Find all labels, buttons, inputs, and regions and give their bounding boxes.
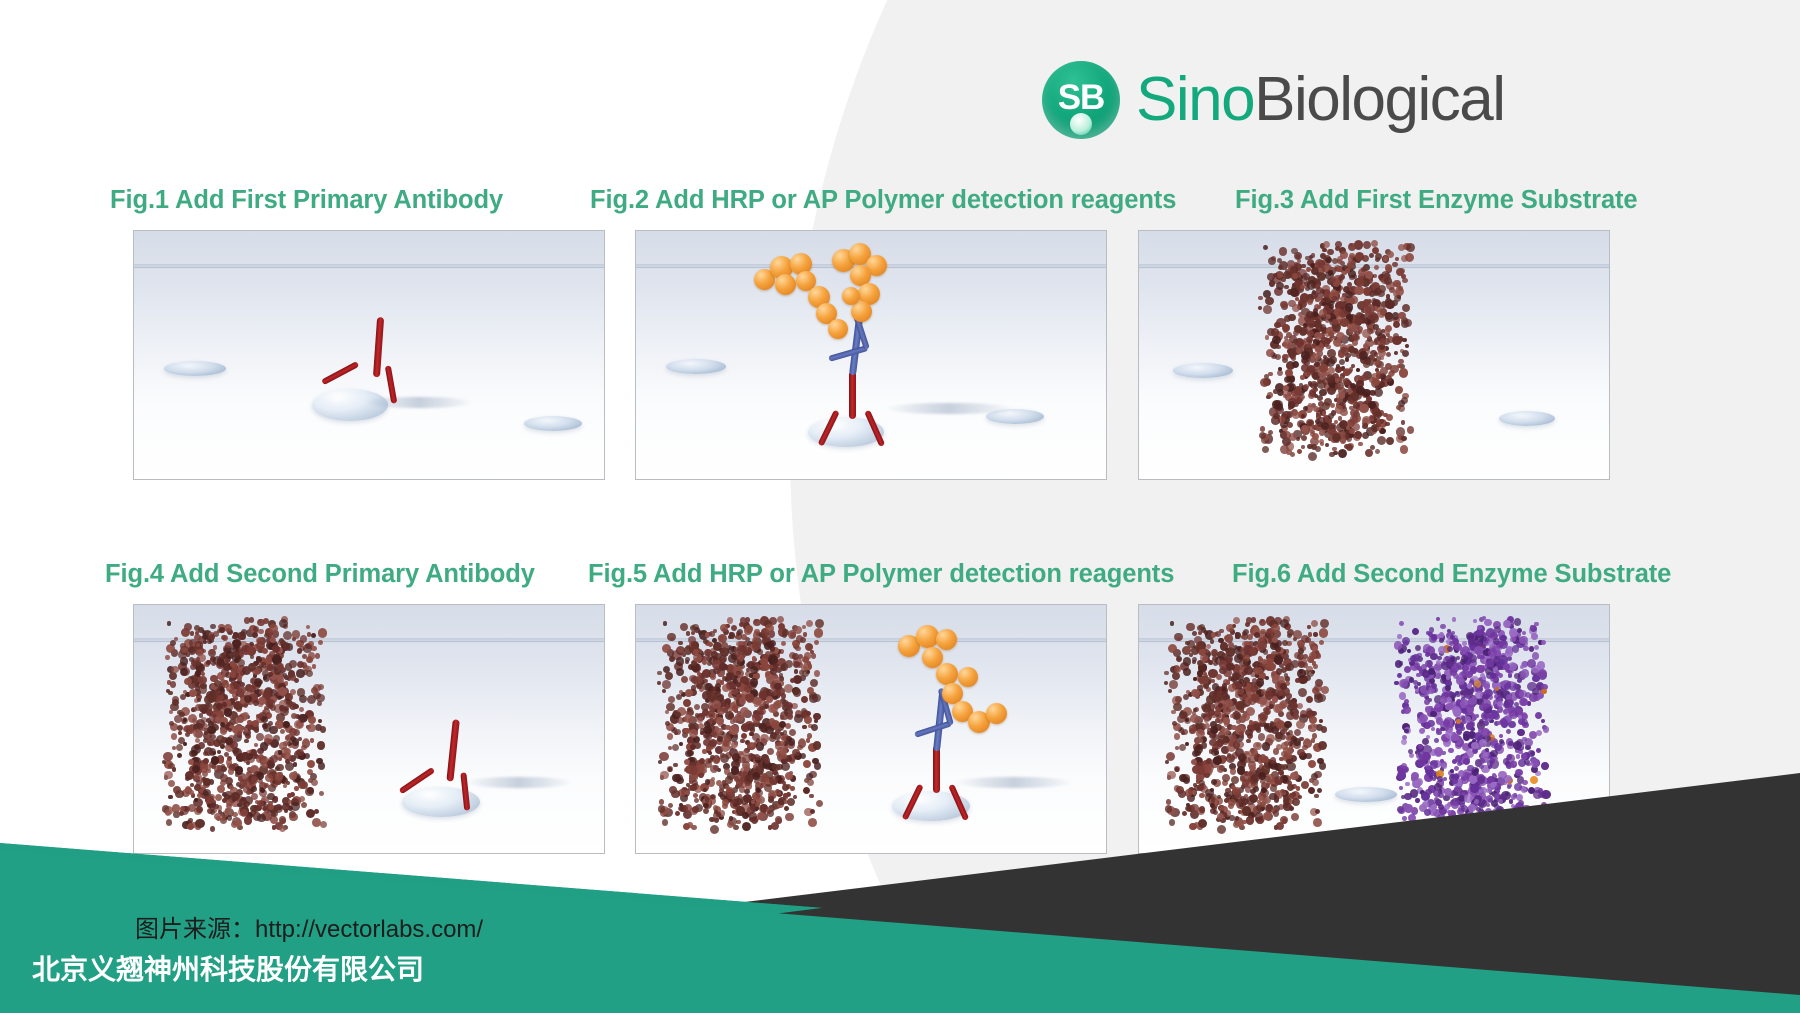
deposit-particle: [1361, 374, 1368, 381]
deposit-particle: [1175, 696, 1182, 703]
deposit-particle: [1381, 329, 1385, 333]
deposit-particle: [720, 624, 728, 632]
deposit-particle: [221, 635, 226, 640]
company-name-label: 北京义翘神州科技股份有限公司: [32, 948, 424, 988]
deposit-particle: [250, 655, 255, 660]
deposit-particle: [1319, 628, 1329, 638]
deposit-particle: [1307, 625, 1311, 629]
deposit-particle: [1354, 286, 1363, 295]
deposit-particle: [1363, 361, 1370, 368]
deposit-particle: [1494, 626, 1501, 633]
deposit-particle: [1288, 314, 1296, 322]
deposit-particle: [773, 663, 778, 668]
deposit-particle: [1278, 265, 1283, 270]
deposit-particle: [1394, 295, 1401, 302]
deposit-particle: [777, 616, 784, 623]
deposit-particle: [1493, 656, 1500, 663]
deposit-particle: [194, 625, 200, 631]
deposit-particle: [299, 695, 307, 703]
deposit-particle: [1519, 636, 1528, 645]
deposit-particle: [1270, 642, 1278, 650]
deposit-particle: [1514, 618, 1522, 626]
deposit-particle: [1277, 370, 1283, 376]
figure-row-1: Fig.1 Add First Primary Antibody Fig.2 A…: [0, 186, 1800, 490]
deposit-particle: [675, 712, 680, 717]
deposit-particle: [1324, 338, 1331, 345]
antibody-arm-left: [321, 361, 359, 385]
deposit-particle: [263, 674, 270, 681]
logo-word-biological: Biological: [1254, 65, 1504, 134]
deposit-particle: [1372, 378, 1380, 386]
deposit-particle: [1331, 289, 1337, 295]
deposit-particle: [1308, 421, 1313, 426]
deposit-particle: [1254, 667, 1263, 676]
deposit-particle: [1363, 423, 1368, 428]
deposit-particle: [1265, 335, 1270, 340]
deposit-particle: [1452, 617, 1456, 621]
deposit-particle: [1395, 660, 1403, 668]
deposit-particle: [814, 628, 824, 638]
deposit-particle: [1271, 671, 1276, 676]
deposit-particle: [1493, 713, 1500, 720]
deposit-particle: [662, 644, 671, 653]
deposit-particle: [1342, 293, 1346, 297]
deposit-particle: [708, 642, 713, 647]
figure-row-1-captions: Fig.1 Add First Primary Antibody Fig.2 A…: [0, 186, 1800, 230]
deposit-particle: [1468, 638, 1476, 646]
deposit-particle: [1377, 420, 1381, 424]
deposit-particle: [812, 694, 820, 702]
deposit-particle: [1307, 330, 1314, 337]
deposit-particle: [1362, 432, 1369, 439]
deposit-particle: [224, 708, 233, 717]
deposit-particle: [1356, 368, 1360, 372]
deposit-particle: [1513, 684, 1518, 689]
deposit-particle: [760, 658, 768, 666]
deposit-particle: [694, 704, 700, 710]
deposit-particle: [1337, 267, 1342, 272]
deposit-particle: [1451, 657, 1455, 661]
deposit-particle: [1401, 420, 1406, 425]
deposit-particle: [1329, 304, 1334, 309]
deposit-particle: [1318, 266, 1324, 272]
deposit-particle: [1400, 445, 1409, 454]
deposit-particle: [1375, 449, 1380, 454]
deposit-particle: [1325, 443, 1329, 447]
deposit-particle: [1406, 243, 1415, 252]
deposit-particle: [814, 670, 821, 677]
deposit-particle: [1301, 635, 1308, 642]
deposit-particle: [316, 694, 324, 702]
deposit-particle: [1295, 678, 1300, 683]
deposit-particle: [1301, 435, 1307, 441]
deposit-particle: [1317, 379, 1322, 384]
deposit-particle: [169, 672, 178, 681]
deposit-particle: [1306, 696, 1313, 703]
deposit-particle: [749, 673, 754, 678]
deposit-particle: [1349, 253, 1355, 259]
deposit-particle: [1183, 668, 1191, 676]
deposit-particle: [1235, 635, 1239, 639]
enzyme-bead: [958, 667, 978, 687]
deposit-particle: [811, 653, 817, 659]
deposit-particle: [1426, 682, 1430, 686]
deposit-particle: [1541, 689, 1546, 694]
deposit-particle: [1164, 671, 1169, 676]
deposit-particle: [311, 633, 316, 638]
deposit-particle: [167, 621, 172, 626]
deposit-particle: [290, 674, 296, 680]
deposit-particle: [300, 635, 307, 642]
deposit-particle: [713, 713, 719, 719]
deposit-particle: [1393, 321, 1400, 328]
deposit-particle: [1436, 617, 1440, 621]
deposit-particle: [1272, 336, 1281, 345]
chromogen-deposit-brown: [1257, 239, 1407, 454]
deposit-particle: [1290, 288, 1299, 297]
deposit-particle: [253, 700, 259, 706]
deposit-particle: [1463, 689, 1473, 699]
deposit-particle: [1404, 666, 1411, 673]
deposit-particle: [736, 631, 741, 636]
deposit-particle: [1319, 429, 1326, 436]
deposit-particle: [796, 635, 803, 642]
deposit-particle: [804, 652, 811, 659]
slide-canvas: SB SinoBiological Fig.1 Add First Primar…: [0, 0, 1800, 1013]
deposit-particle: [676, 657, 684, 665]
deposit-particle: [766, 696, 773, 703]
deposit-particle: [1399, 368, 1408, 377]
deposit-particle: [1276, 668, 1283, 675]
deposit-particle: [1313, 632, 1318, 637]
deposit-particle: [308, 652, 315, 659]
deposit-particle: [739, 697, 747, 705]
deposit-particle: [1431, 683, 1437, 689]
deposit-particle: [815, 619, 824, 628]
deposit-particle: [1315, 298, 1319, 302]
deposit-particle: [1362, 329, 1371, 338]
deposit-particle: [785, 702, 793, 710]
deposit-particle: [1310, 381, 1318, 389]
deposit-particle: [1216, 674, 1222, 680]
deposit-particle: [165, 655, 170, 660]
deposit-particle: [1278, 691, 1283, 696]
deposit-particle: [1345, 353, 1350, 358]
deposit-particle: [1197, 625, 1203, 631]
deposit-particle: [184, 678, 191, 685]
deposit-particle: [1286, 693, 1292, 699]
deposit-particle: [1392, 336, 1401, 345]
deposit-particle: [1512, 645, 1520, 653]
deposit-particle: [1254, 632, 1260, 638]
antigen-blob: [666, 359, 726, 374]
deposit-particle: [1520, 698, 1528, 706]
deposit-particle: [1215, 631, 1221, 637]
deposit-particle: [244, 695, 252, 703]
deposit-particle: [764, 704, 769, 709]
deposit-particle: [1412, 628, 1419, 635]
deposit-particle: [1401, 436, 1406, 441]
deposit-particle: [1347, 261, 1354, 268]
deposit-particle: [1402, 278, 1408, 284]
deposit-particle: [1186, 623, 1194, 631]
deposit-particle: [1354, 240, 1363, 249]
deposit-particle: [685, 657, 690, 662]
deposit-particle: [1297, 449, 1302, 454]
deposit-particle: [1300, 375, 1305, 380]
deposit-particle: [1286, 449, 1291, 454]
deposit-particle: [805, 643, 813, 651]
deposit-particle: [1265, 676, 1269, 680]
deposit-particle: [1287, 422, 1293, 428]
deposit-particle: [1507, 681, 1512, 686]
deposit-particle: [1308, 392, 1316, 400]
deposit-particle: [1292, 304, 1300, 312]
deposit-particle: [206, 718, 211, 723]
deposit-particle: [1340, 251, 1348, 259]
deposit-particle: [1477, 655, 1482, 660]
deposit-particle: [1293, 330, 1299, 336]
deposit-particle: [261, 662, 267, 668]
deposit-particle: [1258, 296, 1263, 301]
deposit-particle: [1319, 640, 1324, 645]
deposit-particle: [1328, 331, 1334, 337]
deposit-particle: [1399, 679, 1408, 688]
deposit-particle: [773, 691, 778, 696]
deposit-particle: [803, 632, 807, 636]
deposit-particle: [1251, 617, 1257, 623]
deposit-particle: [1397, 673, 1402, 678]
deposit-particle: [1230, 714, 1234, 718]
deposit-particle: [1398, 312, 1405, 319]
deposit-particle: [1174, 666, 1181, 673]
deposit-particle: [318, 684, 325, 691]
deposit-particle: [180, 657, 188, 665]
antigen-blob: [1173, 363, 1233, 378]
deposit-particle: [1345, 303, 1353, 311]
deposit-particle: [1476, 630, 1483, 637]
deposit-particle: [1398, 244, 1405, 251]
deposit-particle: [1407, 649, 1411, 653]
deposit-particle: [1403, 706, 1411, 714]
logo-word-sino: Sino: [1136, 65, 1254, 134]
deposit-particle: [1396, 405, 1401, 410]
deposit-particle: [1327, 249, 1333, 255]
deposit-particle: [267, 664, 274, 671]
deposit-particle: [1370, 355, 1375, 360]
deposit-particle: [1329, 452, 1335, 458]
deposit-particle: [752, 641, 761, 650]
deposit-particle: [1225, 699, 1233, 707]
deposit-particle: [1405, 344, 1409, 348]
deposit-particle: [1268, 257, 1276, 265]
deposit-particle: [279, 619, 288, 628]
deposit-particle: [1177, 637, 1181, 641]
deposit-particle: [807, 687, 814, 694]
deposit-particle: [703, 639, 708, 644]
deposit-particle: [1316, 653, 1322, 659]
deposit-particle: [181, 628, 190, 637]
deposit-particle: [732, 689, 738, 695]
deposit-particle: [237, 676, 242, 681]
deposit-particle: [1258, 714, 1262, 718]
deposit-particle: [1177, 715, 1185, 723]
deposit-particle: [1307, 280, 1316, 289]
deposit-particle: [1297, 669, 1306, 678]
deposit-particle: [1314, 353, 1321, 360]
deposit-particle: [1338, 449, 1347, 458]
deposit-particle: [1313, 312, 1318, 317]
deposit-particle: [668, 696, 675, 703]
logo-highlight-dot: [1070, 113, 1092, 135]
deposit-particle: [695, 676, 703, 684]
deposit-particle: [705, 649, 710, 654]
deposit-particle: [1514, 673, 1520, 679]
deposit-particle: [1336, 423, 1345, 432]
figure-row-1-panels: [0, 230, 1800, 490]
deposit-particle: [1301, 445, 1305, 449]
deposit-particle: [1284, 285, 1288, 289]
deposit-particle: [1345, 291, 1353, 299]
deposit-particle: [1380, 367, 1388, 375]
deposit-particle: [1317, 694, 1325, 702]
deposit-particle: [1344, 444, 1349, 449]
deposit-particle: [1176, 656, 1182, 662]
figure-caption-5: Fig.5 Add HRP or AP Polymer detection re…: [588, 560, 1174, 589]
deposit-particle: [195, 682, 199, 686]
deposit-particle: [237, 686, 246, 695]
deposit-particle: [1283, 431, 1291, 439]
deposit-particle: [1438, 646, 1446, 654]
deposit-particle: [277, 663, 284, 670]
deposit-particle: [1355, 331, 1360, 336]
deposit-particle: [1259, 619, 1267, 627]
deposit-particle: [318, 628, 328, 638]
deposit-particle: [680, 623, 688, 631]
antibody-stem: [373, 317, 384, 377]
deposit-particle: [1291, 248, 1298, 255]
deposit-particle: [1276, 282, 1284, 290]
panel-horizon-line: [134, 267, 604, 268]
deposit-particle: [197, 698, 201, 702]
deposit-particle: [1377, 436, 1386, 445]
deposit-particle: [665, 672, 674, 681]
deposit-particle: [1265, 297, 1274, 306]
deposit-particle: [267, 699, 275, 707]
deposit-particle: [1202, 704, 1211, 713]
image-source-label: 图片来源：http://vectorlabs.com/: [135, 909, 483, 944]
deposit-particle: [1273, 389, 1278, 394]
deposit-particle: [657, 681, 662, 686]
deposit-particle: [1374, 265, 1379, 270]
deposit-particle: [684, 714, 693, 723]
deposit-particle: [219, 627, 225, 633]
deposit-particle: [1275, 704, 1283, 712]
deposit-particle: [284, 706, 289, 711]
deposit-particle: [709, 631, 715, 637]
figure-caption-2: Fig.2 Add HRP or AP Polymer detection re…: [590, 186, 1176, 215]
deposit-particle: [1332, 319, 1338, 325]
deposit-particle: [222, 680, 230, 688]
deposit-particle: [1521, 669, 1530, 678]
deposit-particle: [1204, 717, 1210, 723]
deposit-particle: [243, 703, 248, 708]
deposit-particle: [1522, 631, 1526, 635]
deposit-particle: [1439, 638, 1444, 643]
deposit-particle: [1313, 664, 1318, 669]
deposit-particle: [1263, 245, 1268, 250]
deposit-particle: [1172, 672, 1181, 681]
deposit-particle: [307, 695, 316, 704]
deposit-particle: [1332, 447, 1336, 451]
deposit-particle: [262, 648, 268, 654]
deposit-particle: [1280, 683, 1287, 690]
deposit-particle: [1271, 416, 1279, 424]
deposit-particle: [1249, 648, 1256, 655]
deposit-particle: [720, 680, 724, 684]
deposit-particle: [1405, 253, 1415, 263]
deposit-particle: [1371, 240, 1378, 247]
deposit-particle: [258, 697, 266, 705]
deposit-particle: [1395, 257, 1399, 261]
deposit-particle: [1316, 287, 1323, 294]
deposit-particle: [1503, 663, 1510, 670]
deposit-particle: [1462, 708, 1468, 714]
deposit-particle: [1416, 673, 1420, 677]
deposit-particle: [1535, 712, 1542, 719]
deposit-particle: [254, 678, 262, 686]
deposit-particle: [745, 617, 751, 623]
deposit-particle: [311, 646, 316, 651]
deposit-particle: [1340, 437, 1346, 443]
sb-monogram-icon: SB: [1042, 61, 1120, 139]
deposit-particle: [1313, 406, 1319, 412]
deposit-particle: [1541, 640, 1546, 645]
deposit-particle: [1374, 388, 1383, 397]
deposit-particle: [1453, 708, 1462, 717]
deposit-particle: [1298, 312, 1303, 317]
deposit-particle: [764, 642, 772, 650]
deposit-particle: [1365, 449, 1373, 457]
deposit-particle: [1233, 645, 1238, 650]
deposit-particle: [1319, 389, 1326, 396]
deposit-particle: [206, 660, 211, 665]
deposit-particle: [180, 668, 188, 676]
deposit-particle: [1363, 241, 1371, 249]
deposit-particle: [1219, 713, 1225, 719]
deposit-particle: [242, 712, 249, 719]
deposit-particle: [793, 688, 802, 697]
deposit-particle: [814, 640, 819, 645]
deposit-particle: [794, 714, 803, 723]
deposit-particle: [170, 640, 176, 646]
deposit-particle: [1210, 639, 1215, 644]
deposit-particle: [303, 644, 312, 653]
deposit-particle: [1323, 241, 1330, 248]
deposit-particle: [1384, 277, 1391, 284]
figure-caption-6: Fig.6 Add Second Enzyme Substrate: [1232, 560, 1671, 589]
antigen-blob: [524, 416, 582, 431]
deposit-particle: [1404, 319, 1412, 327]
deposit-particle: [1402, 637, 1410, 645]
deposit-particle: [1309, 652, 1316, 659]
deposit-particle: [281, 644, 286, 649]
deposit-particle: [1385, 422, 1390, 427]
deposit-particle: [1508, 673, 1512, 677]
deposit-particle: [801, 696, 808, 703]
deposit-particle: [770, 704, 778, 712]
deposit-particle: [168, 691, 173, 696]
